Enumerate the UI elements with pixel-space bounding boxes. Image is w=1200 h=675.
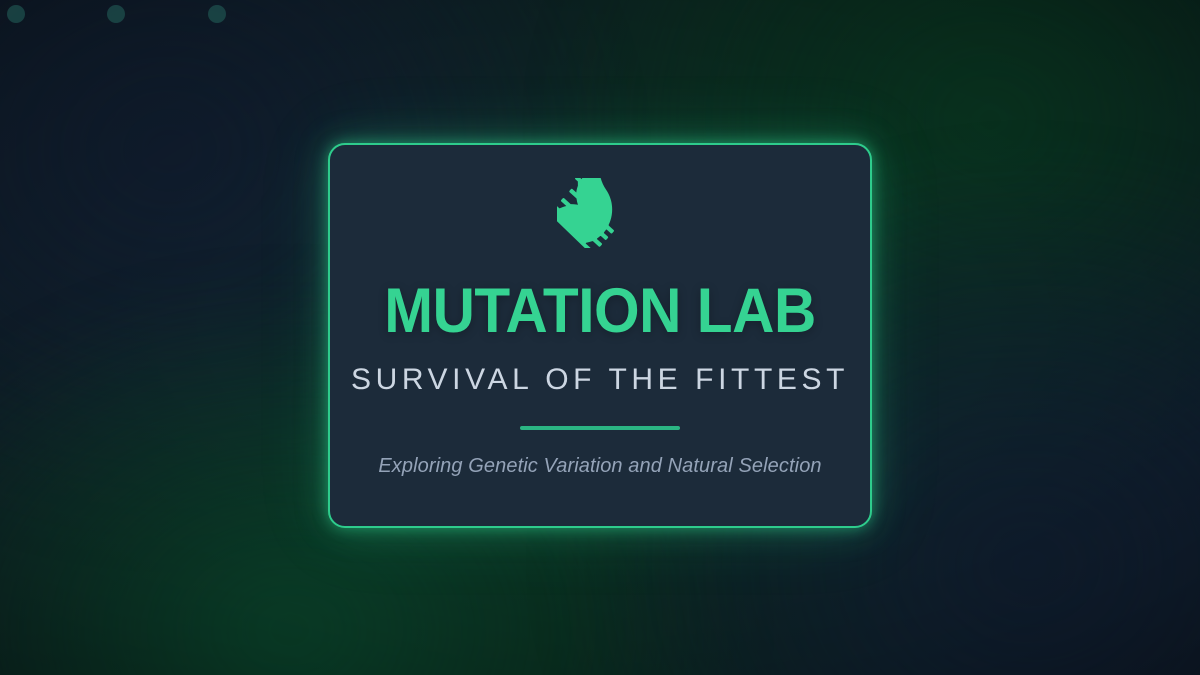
- decorative-dot: [208, 5, 226, 23]
- page-title: MUTATION LAB: [384, 280, 816, 343]
- dna-icon: [554, 177, 646, 249]
- decorative-dot: [107, 5, 125, 23]
- divider: [520, 426, 680, 430]
- page-subtitle: SURVIVAL OF THE FITTEST: [351, 365, 849, 395]
- page-tagline: Exploring Genetic Variation and Natural …: [378, 456, 821, 476]
- slide-canvas: MUTATION LAB SURVIVAL OF THE FITTEST Exp…: [0, 0, 1200, 675]
- decorative-dot: [7, 5, 25, 23]
- title-card: MUTATION LAB SURVIVAL OF THE FITTEST Exp…: [328, 143, 872, 528]
